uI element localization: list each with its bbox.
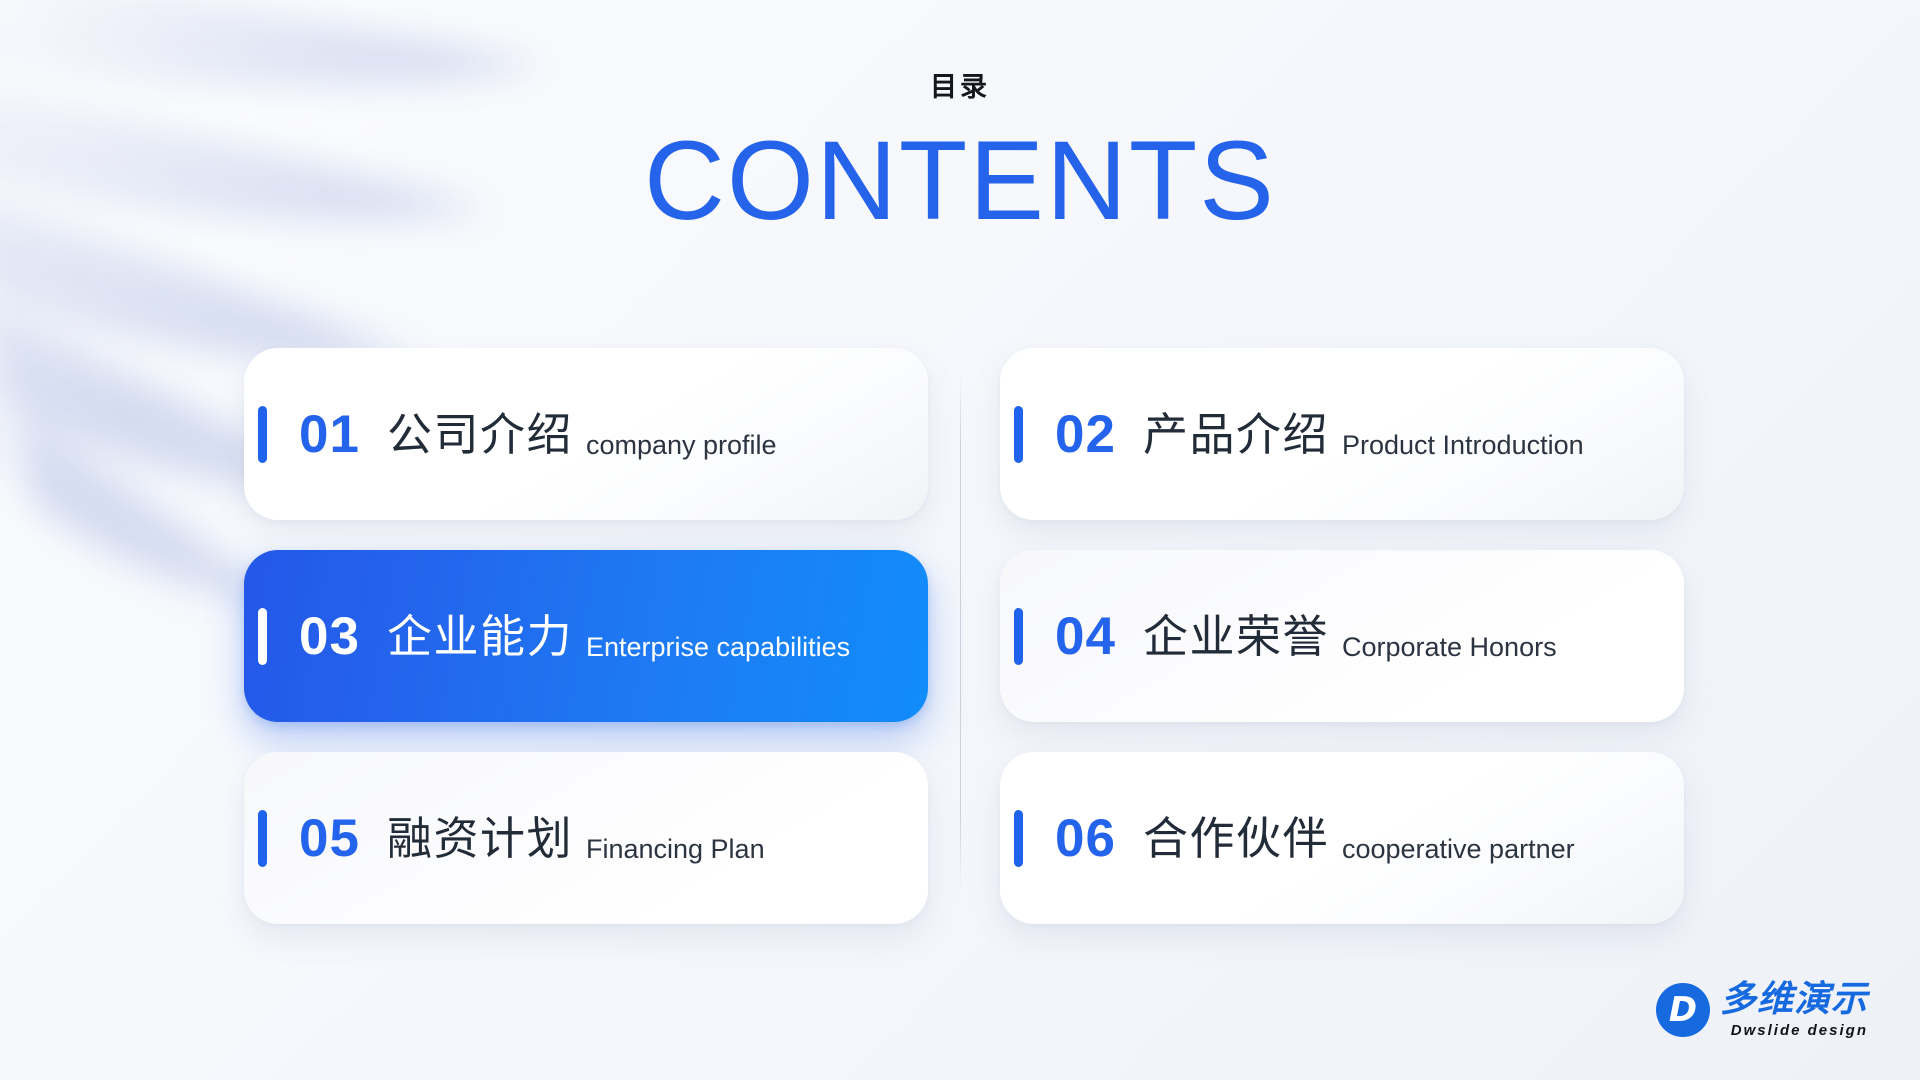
accent-bar-icon: [258, 810, 267, 867]
item-title-en: cooperative partner: [1342, 836, 1575, 863]
item-title-cn: 公司介绍: [387, 412, 573, 457]
item-title-cn: 合作伙伴: [1143, 816, 1329, 861]
logo-name-cn: 多维演示: [1720, 981, 1868, 1017]
item-title-en: Financing Plan: [586, 836, 765, 863]
contents-item-02[interactable]: 02 产品介绍 Product Introduction: [1000, 348, 1684, 520]
accent-bar-icon: [258, 406, 267, 463]
item-title-cn: 企业能力: [387, 614, 573, 659]
accent-bar-icon: [1014, 406, 1023, 463]
item-title-en: Enterprise capabilities: [586, 634, 850, 661]
page-eyebrow: 目录: [0, 74, 1920, 101]
contents-item-03[interactable]: 03 企业能力 Enterprise capabilities: [244, 550, 928, 722]
contents-grid: 01 公司介绍 company profile 02 产品介绍 Product …: [244, 348, 1684, 924]
accent-bar-icon: [258, 608, 267, 665]
item-number: 05: [299, 812, 360, 865]
item-number: 02: [1055, 408, 1116, 461]
accent-bar-icon: [1014, 608, 1023, 665]
brand-logo: D 多维演示 Dwslide design: [1656, 981, 1868, 1038]
item-title-cn: 产品介绍: [1143, 412, 1329, 457]
slide-header: 目录 CONTENTS: [0, 74, 1920, 239]
page-title: CONTENTS: [0, 123, 1920, 239]
contents-item-06[interactable]: 06 合作伙伴 cooperative partner: [1000, 752, 1684, 924]
item-title-en: Product Introduction: [1342, 432, 1584, 459]
item-number: 06: [1055, 812, 1116, 865]
item-title-en: company profile: [586, 432, 777, 459]
item-number: 01: [299, 408, 360, 461]
item-number: 03: [299, 610, 360, 663]
logo-wordmark: 多维演示 Dwslide design: [1720, 981, 1868, 1038]
contents-item-04[interactable]: 04 企业荣誉 Corporate Honors: [1000, 550, 1684, 722]
logo-name-en: Dwslide design: [1720, 1023, 1868, 1038]
logo-circle-d-icon: D: [1656, 983, 1710, 1037]
contents-item-01[interactable]: 01 公司介绍 company profile: [244, 348, 928, 520]
item-number: 04: [1055, 610, 1116, 663]
logo-letter: D: [1656, 983, 1710, 1037]
accent-bar-icon: [1014, 810, 1023, 867]
item-title-cn: 企业荣誉: [1143, 614, 1329, 659]
contents-item-05[interactable]: 05 融资计划 Financing Plan: [244, 752, 928, 924]
item-title-en: Corporate Honors: [1342, 634, 1557, 661]
item-title-cn: 融资计划: [387, 816, 573, 861]
slide-canvas: 目录 CONTENTS 01 公司介绍 company profile 02 产…: [0, 0, 1920, 1080]
